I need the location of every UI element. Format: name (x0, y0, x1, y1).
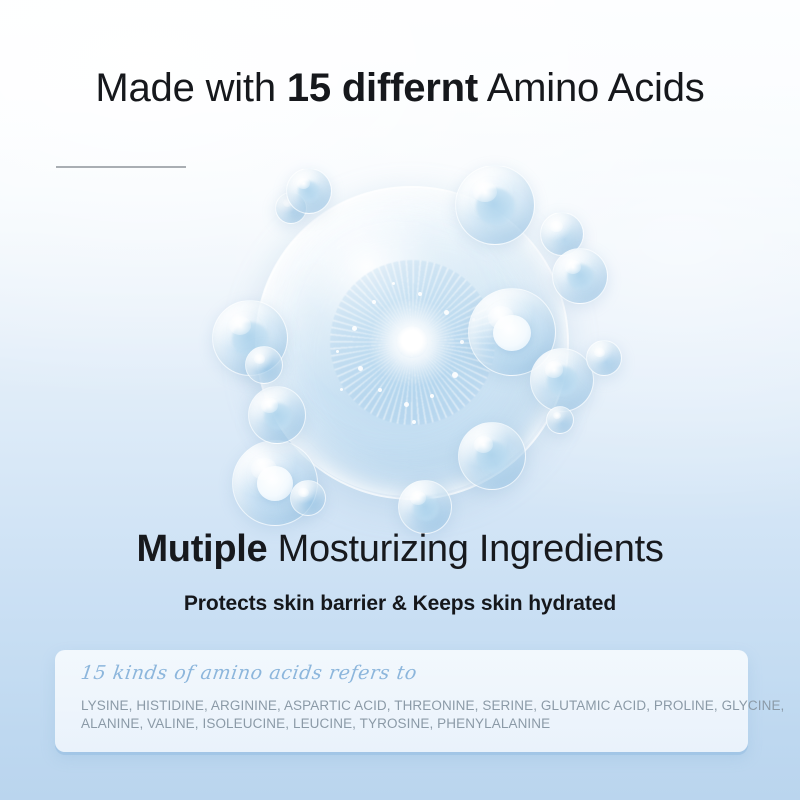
satellite-bubble (458, 422, 526, 490)
satellite-bubble (530, 348, 594, 412)
ingredients-line-1: LYSINE, HISTIDINE, ARGININE, ASPARTIC AC… (81, 697, 729, 715)
satellite-bubble (286, 168, 332, 214)
satellite-bubble (248, 386, 306, 444)
subhead-trail: Mosturizing Ingredients (267, 528, 663, 570)
ingredients-list: LYSINE, HISTIDINE, ARGININE, ASPARTIC AC… (81, 697, 729, 733)
sparkle-dot (372, 300, 376, 304)
bubble-artwork (0, 150, 800, 550)
sparkle-dot (378, 388, 382, 392)
satellite-bubble (290, 480, 326, 516)
sparkle-dot (352, 326, 357, 331)
sparkle-dot (452, 372, 458, 378)
subhead-emphasis: Mutiple (136, 528, 267, 570)
sparkle-dot (444, 310, 449, 315)
ingredients-line-2: ALANINE, VALINE, ISOLEUCINE, LEUCINE, TY… (81, 715, 729, 733)
section-subtitle: Mutiple Mosturizing Ingredients (0, 524, 800, 574)
headline-emphasis: 15 differnt (287, 66, 478, 110)
page-title: Made with 15 differnt Amino Acids (0, 62, 800, 114)
sparkle-dot (392, 282, 395, 285)
sparkle-dot (404, 402, 409, 407)
sparkle-dot (460, 340, 464, 344)
satellite-bubble (546, 406, 574, 434)
ingredients-panel: 15 kinds of amino acids refers to LYSINE… (55, 650, 748, 752)
sparkle-dot (336, 350, 339, 353)
ingredients-script-label: 15 kinds of amino acids refers to (79, 660, 419, 686)
core-highlight (396, 326, 428, 358)
product-feature-poster: Made with 15 differnt Amino Acids (0, 0, 800, 800)
sparkle-dot (358, 366, 363, 371)
sparkle-dot (418, 292, 422, 296)
benefit-tagline: Protects skin barrier & Keeps skin hydra… (0, 589, 800, 619)
satellite-bubble (455, 165, 535, 245)
sparkle-dot (412, 420, 416, 424)
headline-trail: Amino Acids (478, 66, 705, 110)
sparkle-dot (340, 388, 343, 391)
sparkle-dot (430, 394, 434, 398)
headline-lead: Made with (95, 66, 286, 110)
satellite-bubble (552, 248, 608, 304)
satellite-bubble (586, 340, 622, 376)
satellite-bubble (245, 346, 283, 384)
